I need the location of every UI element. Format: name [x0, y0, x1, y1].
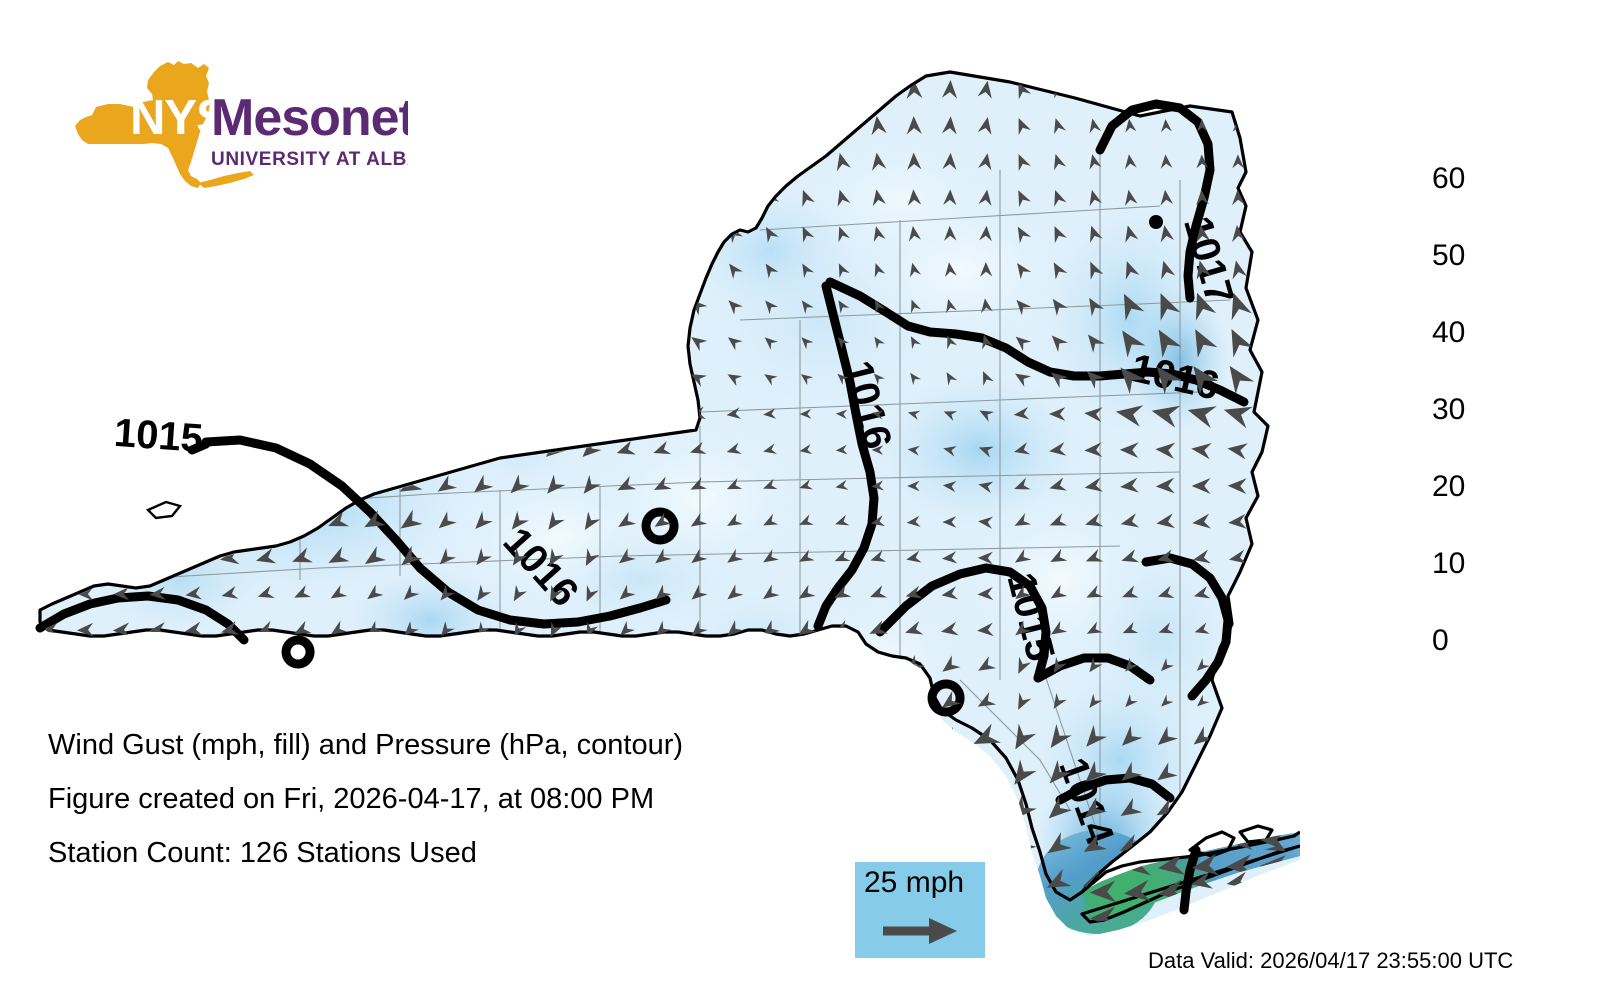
wind-arrow: [901, 690, 926, 714]
wind-arrow: [291, 187, 311, 207]
wind-arrow: [329, 370, 346, 385]
wind-arrow: [577, 403, 602, 427]
wind-arrow: [41, 260, 59, 279]
wind-arrow: [585, 696, 596, 709]
wind-arrow: [795, 655, 817, 678]
wind-arrow: [439, 659, 453, 674]
wind-arrow: [617, 117, 634, 135]
wind-arrow: [1087, 81, 1101, 97]
wind-arrow: [689, 693, 707, 713]
wind-arrow: [77, 224, 94, 243]
wind-arrow: [548, 660, 559, 673]
wind-arrow: [186, 371, 200, 385]
wind-arrow: [364, 406, 382, 422]
wind-arrow: [218, 655, 241, 678]
wind-arrow: [186, 298, 202, 314]
colorbar-tick-30: 30: [1432, 395, 1465, 425]
wind-arrow: [472, 298, 491, 314]
wind-arrow: [254, 78, 277, 101]
wind-arrow: [112, 550, 131, 566]
wind-arrow: [145, 691, 170, 715]
wind-arrow: [433, 439, 457, 462]
wind-arrow: [258, 407, 272, 420]
wind-arrow: [1266, 224, 1281, 242]
wind-arrow: [1156, 827, 1185, 853]
wind-arrow: [616, 188, 635, 208]
wind-arrow: [222, 371, 237, 385]
wind-arrow: [828, 798, 854, 823]
wind-arrow: [149, 261, 166, 278]
wind-arrow: [617, 81, 633, 98]
wind-arrow: [582, 119, 597, 132]
wind-arrow: [794, 691, 817, 715]
wind-arrow: [1233, 83, 1243, 95]
wind-arrow: [39, 549, 59, 566]
wind-arrow: [583, 84, 597, 96]
wind-arrow: [330, 408, 345, 421]
wind-arrow: [41, 151, 59, 170]
wind-arrow: [221, 297, 238, 313]
wind-arrow: [545, 155, 561, 169]
wind-arrow: [474, 83, 488, 96]
wind-arrow: [1260, 762, 1286, 787]
wind-arrow: [74, 692, 97, 714]
wind-arrow: [150, 371, 164, 385]
wind-arrow: [1268, 119, 1279, 132]
wind-arrow: [688, 79, 707, 99]
wind-arrow: [76, 115, 95, 136]
wind-arrow: [146, 77, 168, 101]
wind-arrow: [1124, 82, 1136, 96]
wind-arrow: [74, 656, 96, 677]
wind-arrow: [866, 655, 889, 679]
wind-arrow: [508, 226, 526, 242]
wind-arrow: [255, 114, 277, 137]
wind-arrow: [1263, 441, 1284, 460]
wind-arrow: [512, 660, 523, 673]
wind-arrow: [1197, 83, 1207, 95]
wind-arrow: [1268, 154, 1280, 168]
wind-arrow: [724, 692, 744, 713]
wind-arrow: [938, 800, 961, 821]
wind-arrow: [220, 224, 239, 243]
wind-arrow: [547, 84, 560, 96]
wind-arrow: [581, 191, 597, 205]
wind-arrow: [400, 370, 419, 386]
wind-arrow: [864, 726, 890, 752]
coastline-details: [148, 502, 180, 518]
wind-arrow: [652, 187, 671, 207]
wind-arrow: [221, 479, 238, 493]
wind-arrow: [258, 371, 273, 385]
wind-arrow: [75, 550, 95, 567]
wind-arrow: [291, 692, 313, 714]
wind-arrow: [723, 78, 743, 100]
wind-arrow: [402, 658, 418, 675]
wind-arrow: [435, 334, 454, 350]
wind-arrow: [112, 514, 131, 531]
wind-arrow: [1261, 799, 1286, 823]
wind-arrow: [181, 655, 205, 678]
wind-arrow: [579, 297, 600, 315]
wind-arrow: [472, 262, 491, 279]
wind-arrow: [327, 151, 347, 171]
wind-arrow: [688, 187, 707, 207]
wind-arrow: [399, 297, 419, 315]
wind-arrow: [220, 514, 239, 530]
wind-arrow: [78, 406, 94, 421]
wind-arrow: [293, 370, 309, 385]
wind-arrow: [436, 153, 454, 170]
wind-arrow: [584, 660, 596, 674]
wind-speed-reference-key: 25 mph: [855, 862, 985, 958]
wind-arrow: [148, 550, 167, 566]
wind-arrow: [292, 224, 312, 244]
wind-arrow: [724, 115, 744, 136]
wind-arrow: [435, 261, 455, 279]
wind-arrow: [114, 370, 129, 385]
wind-arrow: [41, 296, 59, 314]
wind-arrow: [1260, 881, 1286, 903]
wind-arrow: [1153, 835, 1178, 858]
wind-arrow: [1225, 726, 1250, 751]
wind-arrow: [1260, 907, 1286, 929]
wind-arrow: [1190, 906, 1219, 931]
wind-arrow: [38, 439, 60, 460]
wind-arrow: [1265, 623, 1282, 638]
wind-arrow: [577, 367, 601, 390]
wind-arrow: [399, 405, 420, 424]
wind-arrow: [476, 660, 488, 674]
wind-arrow: [222, 334, 238, 349]
wind-arrow: [150, 298, 166, 314]
wind-arrow: [112, 477, 131, 494]
wind-arrow: [615, 405, 635, 423]
wind-arrow: [1265, 694, 1281, 710]
wind-arrow: [185, 261, 202, 278]
wind-arrow: [795, 78, 816, 101]
wind-arrow: [688, 151, 707, 171]
wind-arrow: [328, 657, 347, 677]
wind-arrow: [435, 225, 455, 243]
wind-arrow: [400, 153, 419, 171]
colorbar-tick-50: 50: [1432, 241, 1465, 271]
wind-arrow: [506, 332, 529, 352]
wind-arrow: [939, 837, 960, 856]
wind-arrow: [150, 334, 165, 349]
wind-arrow: [865, 690, 890, 715]
gust-colorbar: [1338, 176, 1430, 640]
wind-arrow: [545, 191, 562, 206]
wind-arrow: [327, 224, 347, 244]
wind-arrow: [653, 80, 671, 99]
wind-arrow: [1259, 289, 1287, 320]
wind-arrow: [396, 438, 423, 463]
wind-arrow: [545, 227, 562, 242]
wind-arrow: [434, 369, 456, 388]
wind-arrow: [614, 330, 637, 352]
wind-arrow: [652, 406, 671, 423]
wind-arrow: [689, 657, 707, 676]
wind-arrow: [77, 151, 95, 171]
wind-arrow: [1265, 658, 1282, 675]
wind-arrow: [364, 116, 383, 135]
wind-arrow: [505, 367, 530, 390]
wind-arrow: [832, 78, 852, 101]
wind-arrow: [688, 223, 707, 243]
wind-arrow: [652, 223, 672, 243]
wind-arrow: [184, 478, 202, 493]
wind-arrow: [469, 438, 494, 462]
wind-arrow: [217, 691, 241, 715]
wind-arrow: [327, 260, 347, 279]
wind-arrow: [256, 478, 274, 494]
wind-arrow: [549, 697, 559, 709]
wind-arrow: [41, 587, 57, 600]
wind-arrow: [402, 694, 417, 711]
wind-arrow: [149, 224, 167, 243]
wind-arrow: [181, 691, 206, 715]
wind-arrow: [111, 78, 132, 101]
wind-arrow: [145, 655, 169, 678]
wind-arrow: [220, 187, 240, 208]
wind-arrow: [438, 82, 454, 97]
wind-arrow: [292, 260, 311, 279]
wind-arrow: [41, 405, 58, 422]
wind-arrow: [293, 334, 310, 350]
wind-arrow: [542, 332, 565, 353]
wind-arrow: [365, 371, 382, 385]
wind-arrow: [511, 84, 525, 96]
wind-arrow: [41, 369, 59, 386]
wind-arrow: [109, 691, 133, 714]
wind-arrow: [508, 262, 526, 278]
wind-arrow: [580, 262, 598, 278]
wind-arrow: [148, 478, 166, 494]
wind-arrow: [292, 297, 310, 315]
wind-arrow: [618, 694, 634, 711]
wind-arrow: [759, 691, 781, 714]
wind-arrow: [1230, 695, 1246, 710]
wind-arrow: [328, 297, 347, 315]
wind-arrow: [364, 152, 384, 171]
wind-arrow: [651, 295, 672, 316]
wind-arrow: [291, 115, 312, 137]
wind-arrow: [219, 150, 240, 172]
wind-arrow: [1189, 799, 1213, 822]
wind-arrow: [470, 333, 491, 352]
wind-arrow: [399, 224, 419, 243]
colorbar-tick-labels: 60 50 40 30 20 10 0: [1432, 160, 1512, 660]
wind-arrow: [439, 695, 452, 710]
wind-arrow: [112, 151, 131, 172]
wind-arrow: [327, 188, 347, 208]
wind-arrow: [581, 227, 598, 241]
wind-arrow: [363, 188, 383, 207]
wind-arrow: [864, 762, 890, 788]
wind-arrow: [399, 260, 419, 279]
wind-arrow: [1225, 906, 1253, 930]
colorbar-gradient: [1338, 176, 1430, 640]
wind-arrow: [653, 116, 671, 135]
wind-key-label: 25 mph: [864, 866, 964, 900]
wind-arrow: [77, 370, 93, 386]
wind-arrow: [257, 334, 273, 350]
figure-caption: Wind Gust (mph, fill) and Pressure (hPa,…: [48, 718, 828, 880]
wind-arrow: [147, 114, 168, 137]
wind-arrow: [218, 77, 241, 101]
wind-arrow: [75, 440, 96, 459]
wind-arrow: [760, 151, 779, 172]
wind-arrow: [543, 297, 564, 315]
wind-arrow: [724, 187, 743, 207]
wind-arrow: [901, 726, 926, 751]
wind-arrow: [112, 114, 132, 136]
wind-arrow: [1160, 83, 1171, 96]
wind-arrow: [1264, 586, 1282, 602]
wind-arrow: [114, 297, 130, 313]
wind-arrow: [832, 114, 851, 135]
wind-arrow: [435, 297, 454, 314]
caption-station-count: Station Count: 126 Stations Used: [48, 826, 828, 880]
wind-arrow: [291, 151, 312, 172]
wind-arrow: [326, 441, 347, 460]
wind-arrow: [760, 114, 780, 136]
wind-arrow: [222, 407, 236, 420]
wind-arrow: [1264, 514, 1283, 530]
wind-arrow: [39, 656, 60, 676]
wind-arrow: [830, 872, 853, 893]
wind-arrow: [221, 261, 239, 279]
wind-arrow: [474, 119, 490, 133]
wind-arrow: [41, 224, 59, 243]
station-marker-dot: [1149, 215, 1163, 229]
colorbar-tick-10: 10: [1432, 549, 1465, 579]
wind-arrow: [1264, 478, 1283, 494]
wind-arrow: [472, 190, 490, 206]
wind-arrow: [254, 691, 277, 714]
wind-arrow: [541, 367, 566, 390]
wind-arrow: [364, 80, 383, 98]
wind-arrow: [971, 834, 999, 858]
wind-arrow: [255, 150, 276, 172]
wind-arrow: [540, 402, 566, 427]
wind-arrow: [437, 118, 454, 134]
wind-arrow: [1225, 799, 1249, 822]
wind-arrow: [796, 114, 816, 136]
wind-arrow: [327, 115, 347, 135]
wind-arrow: [400, 188, 419, 206]
wind-arrow: [901, 799, 926, 822]
wind-arrow: [507, 297, 527, 314]
colorbar-tick-40: 40: [1432, 318, 1465, 348]
wind-arrow: [38, 476, 59, 495]
wind-arrow: [617, 152, 635, 171]
wind-arrow: [38, 692, 60, 712]
wind-arrow: [290, 78, 312, 100]
wind-arrow: [469, 403, 494, 426]
wind-arrow: [578, 332, 601, 353]
wind-arrow: [364, 334, 383, 351]
wind-arrow: [186, 334, 201, 349]
wind-arrow: [901, 762, 926, 786]
wind-arrow: [148, 187, 167, 207]
wind-arrow: [1265, 259, 1283, 279]
wind-arrow: [365, 693, 382, 711]
wind-arrow: [759, 78, 780, 101]
wind-arrow: [513, 696, 524, 709]
wind-arrow: [328, 692, 348, 712]
wind-arrow: [361, 439, 385, 461]
wind-arrow: [182, 77, 205, 101]
wind-arrow: [544, 262, 562, 277]
wind-arrow: [183, 150, 203, 172]
wind-arrow: [651, 368, 672, 388]
wind-arrow: [1269, 83, 1280, 96]
wind-arrow: [902, 836, 925, 857]
wind-arrow: [255, 513, 275, 531]
wind-arrow: [113, 187, 131, 207]
wind-arrow: [77, 297, 94, 314]
wind-arrow: [110, 655, 133, 677]
wind-arrow: [1261, 872, 1285, 893]
wind-arrow: [400, 117, 418, 134]
wind-arrow: [473, 154, 490, 169]
wind-arrow: [504, 402, 530, 426]
wind-arrow: [1267, 189, 1280, 205]
contour-loop-b: [286, 640, 310, 664]
wind-arrow: [937, 763, 961, 785]
wind-arrow: [651, 331, 673, 352]
colorbar-tick-60: 60: [1432, 164, 1465, 194]
wind-arrow: [829, 690, 853, 715]
wind-arrow: [254, 655, 276, 678]
wind-arrow: [184, 187, 203, 207]
wind-arrow: [472, 225, 491, 242]
wind-arrow: [829, 726, 854, 752]
wind-arrow: [969, 760, 1000, 789]
wind-arrow: [970, 797, 1000, 824]
wind-arrow: [290, 512, 312, 532]
wind-arrow: [219, 114, 241, 137]
wind-arrow: [615, 223, 635, 244]
wind-arrow: [294, 407, 309, 420]
wind-arrow: [868, 78, 887, 100]
wind-arrow: [1006, 868, 1037, 898]
wind-arrow: [509, 190, 526, 205]
wind-arrow: [688, 115, 707, 135]
wind-arrow: [76, 78, 96, 100]
wind-arrow: [77, 260, 94, 278]
wind-arrow: [724, 151, 743, 171]
wind-arrow: [40, 79, 59, 100]
wind-arrow: [546, 119, 561, 132]
wind-arrow: [41, 115, 59, 135]
wind-arrow: [653, 694, 670, 712]
wind-arrow: [614, 294, 637, 316]
wind-arrow: [615, 258, 636, 280]
wind-arrow: [41, 333, 59, 351]
wind-arrow: [1229, 658, 1246, 675]
wind-arrow: [582, 155, 598, 169]
wind-arrow: [185, 515, 202, 529]
wind-arrow: [618, 658, 634, 675]
wind-arrow: [864, 798, 890, 823]
wind-arrow: [476, 696, 488, 709]
wind-arrow: [39, 513, 60, 531]
wind-arrow: [510, 119, 525, 132]
wind-arrow: [77, 188, 95, 207]
